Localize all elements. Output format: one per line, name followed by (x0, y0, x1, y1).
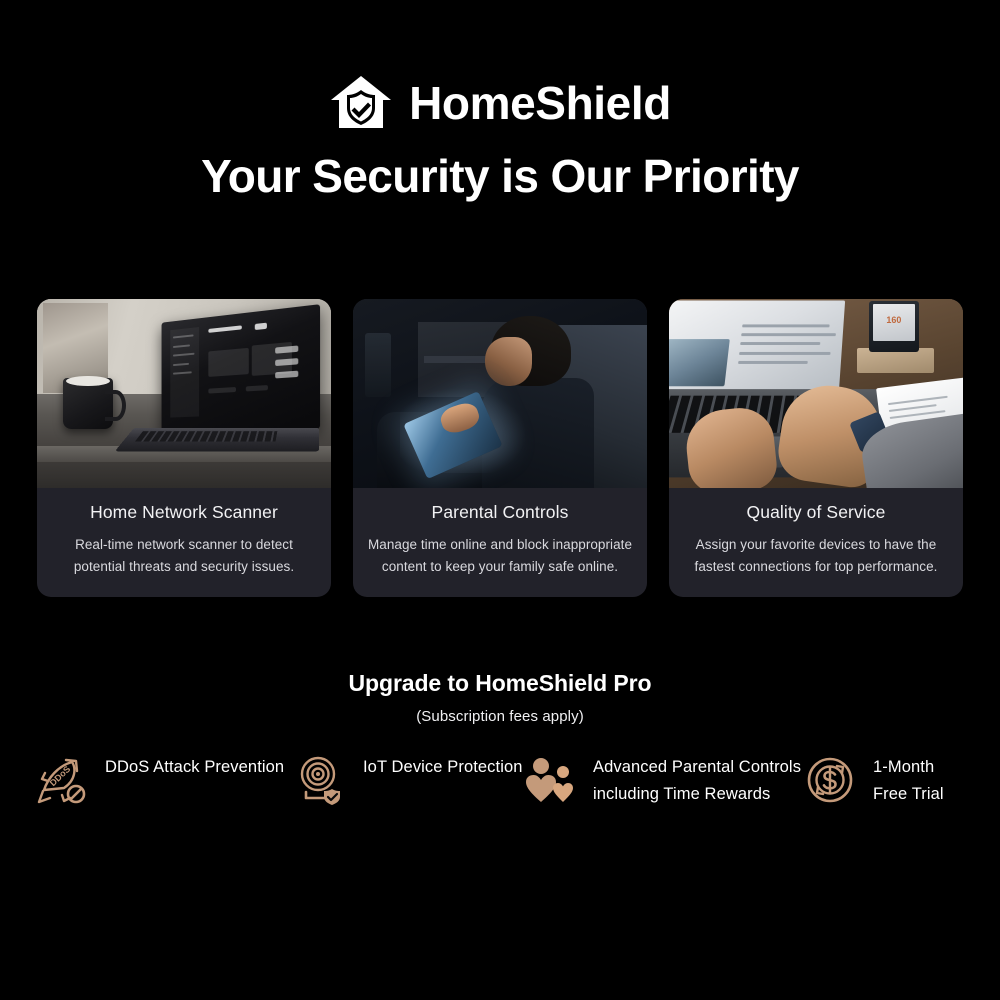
card-description: Real-time network scanner to detect pote… (51, 534, 317, 578)
card-image-quality-of-service: 160 (669, 299, 963, 488)
parent-and-child-icon (524, 754, 576, 806)
rocket-ddos-blocked-icon: DDoS (36, 754, 88, 806)
brand-tagline: Your Security is Our Priority (0, 152, 1000, 200)
house-shield-check-icon (329, 74, 393, 132)
homeshield-promo-page: HomeShield Your Security is Our Priority (0, 0, 1000, 1000)
iot-camera-shield-check-icon (294, 754, 346, 806)
feature-card-quality-of-service[interactable]: 160 (669, 299, 963, 597)
pro-title: Upgrade to HomeShield Pro (0, 670, 1000, 698)
pro-feature-label: IoT Device Protection (363, 752, 523, 781)
pro-feature-list: DDoS DDoS Attack Prevention IoT Device P… (36, 752, 971, 808)
brand-name: HomeShield (409, 80, 671, 126)
brand-logo: HomeShield (0, 72, 1000, 134)
pro-feature-label: 1-Month Free Trial (873, 752, 971, 808)
pro-feature-one-month-free-trial[interactable]: 1-Month Free Trial (804, 752, 971, 808)
card-title: Home Network Scanner (90, 502, 278, 523)
pro-feature-advanced-parental-controls[interactable]: Advanced Parental Controls including Tim… (524, 752, 804, 808)
pro-feature-iot-device-protection[interactable]: IoT Device Protection (294, 752, 524, 806)
feature-card-home-network-scanner[interactable]: Home Network Scanner Real-time network s… (37, 299, 331, 597)
pro-feature-label: Advanced Parental Controls including Tim… (593, 752, 804, 808)
pro-upgrade-section: Upgrade to HomeShield Pro (Subscription … (0, 670, 1000, 725)
dollar-refresh-circle-icon (804, 754, 856, 806)
card-title: Parental Controls (432, 502, 569, 523)
page-header: HomeShield Your Security is Our Priority (0, 0, 1000, 200)
pro-feature-ddos-attack-prevention[interactable]: DDoS DDoS Attack Prevention (36, 752, 294, 806)
card-description: Assign your favorite devices to have the… (683, 534, 949, 578)
card-image-parental-controls (353, 299, 647, 488)
feature-card-row: Home Network Scanner Real-time network s… (37, 299, 963, 597)
card-title: Quality of Service (747, 502, 886, 523)
card-image-home-network-scanner (37, 299, 331, 488)
pro-feature-label: DDoS Attack Prevention (105, 752, 284, 781)
pro-subtitle: (Subscription fees apply) (0, 708, 1000, 725)
card-description: Manage time online and block inappropria… (367, 534, 633, 578)
feature-card-parental-controls[interactable]: Parental Controls Manage time online and… (353, 299, 647, 597)
